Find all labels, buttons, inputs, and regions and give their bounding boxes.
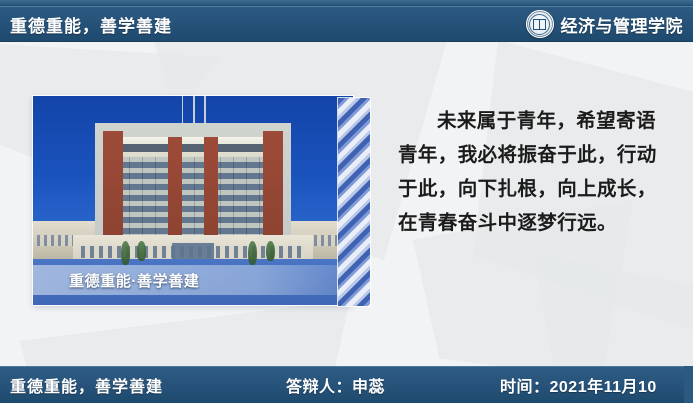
- quote-block: 未来属于青年，希望寄语青年，我必将振奋于此，行动于此，向下扎根，向上成长，在青春…: [398, 104, 674, 240]
- footer-motto: 重德重能，善学善建: [10, 373, 163, 397]
- tree-icon: [248, 241, 257, 265]
- footer-date: 时间：2021年11月10: [500, 373, 657, 397]
- tree-icon: [266, 241, 275, 261]
- slide-footer: 重德重能，善学善建 答辩人：申蕊 时间：2021年11月10: [0, 366, 693, 403]
- header-brand: 经济与管理学院: [526, 10, 684, 38]
- header-motto: 重德重能，善学善建: [10, 12, 172, 37]
- tree-icon: [137, 241, 146, 261]
- slide-header: 重德重能，善学善建 经济与管理学院: [0, 6, 693, 42]
- footer-presenter: 答辩人：申蕊: [286, 373, 385, 397]
- header-college-name: 经济与管理学院: [561, 12, 684, 37]
- university-emblem-icon: [526, 10, 554, 38]
- quote-text: 未来属于青年，希望寄语青年，我必将振奋于此，行动于此，向下扎根，向上成长，在青春…: [398, 104, 674, 240]
- campus-building-photo: 重德重能·善学善建: [33, 96, 353, 305]
- photo-caption-text: 重德重能·善学善建: [33, 270, 199, 291]
- presentation-slide: 重德重能，善学善建 经济与管理学院: [0, 0, 693, 403]
- photo-caption-band: 重德重能·善学善建: [33, 265, 353, 295]
- footer-right-edge: [684, 366, 693, 403]
- diagonal-stripe-decoration: [338, 98, 370, 306]
- tree-icon: [121, 241, 130, 265]
